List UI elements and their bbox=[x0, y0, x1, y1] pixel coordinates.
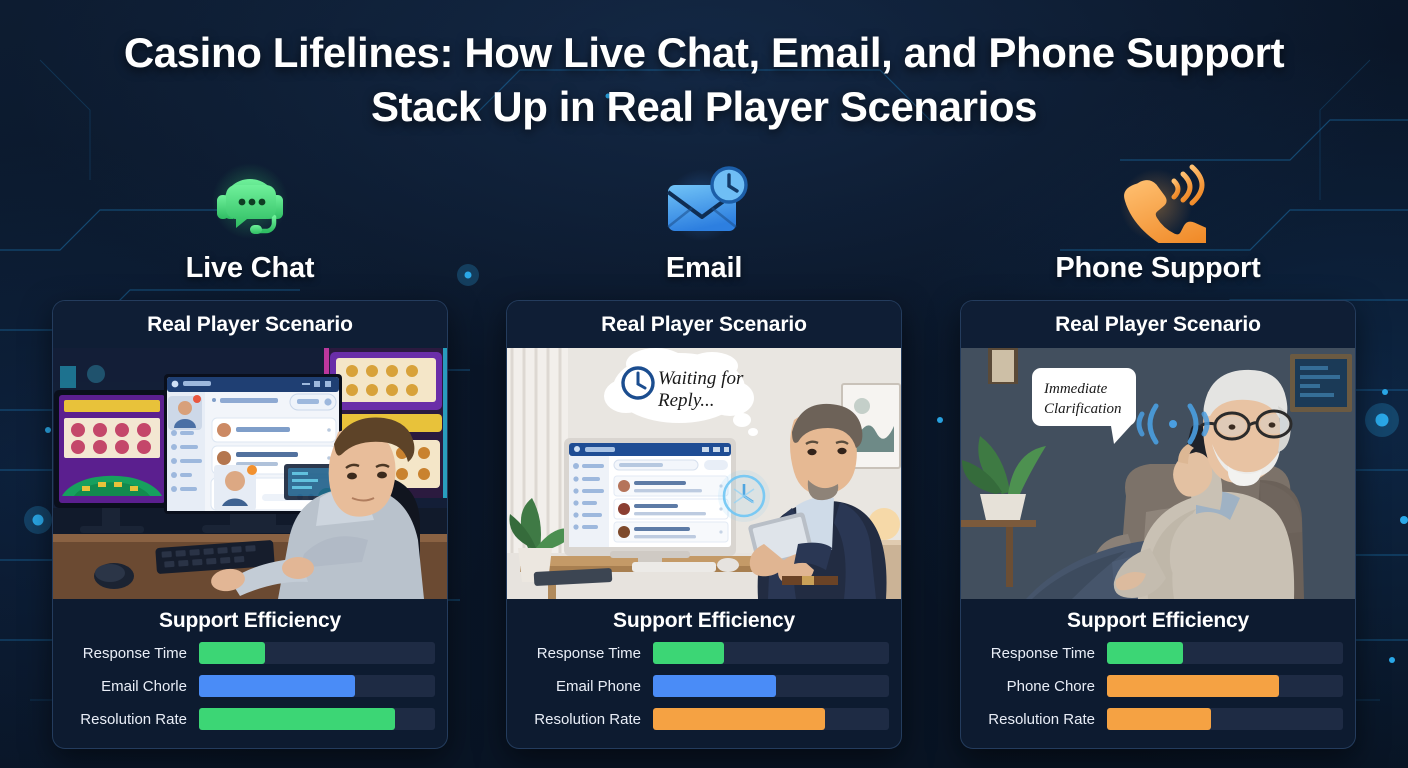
scene-businessman-waiting-at-desk: Waiting for Reply... bbox=[507, 348, 901, 599]
speech-bubble-line2: Clarification bbox=[1044, 401, 1122, 417]
metric-fill bbox=[1107, 675, 1279, 697]
metric-label: Resolution Rate bbox=[973, 711, 1107, 728]
scenario-card-phone-support: Real Player Scenario bbox=[960, 300, 1356, 749]
metric-label: Resolution Rate bbox=[519, 711, 653, 728]
scenario-card-email: Real Player Scenario bbox=[506, 300, 902, 749]
support-efficiency-phone: Support Efficiency Response Time Phone C… bbox=[961, 599, 1355, 748]
metric-fill bbox=[199, 708, 395, 730]
metric-fill bbox=[653, 675, 776, 697]
metric-track bbox=[1107, 675, 1343, 697]
channel-column-live-chat: Live Chat Real Player Scenario bbox=[52, 160, 448, 749]
metric-row: Email Phone bbox=[519, 675, 889, 697]
channel-label: Live Chat bbox=[186, 252, 315, 285]
metric-row: Resolution Rate bbox=[65, 708, 435, 730]
metric-label: Response Time bbox=[65, 645, 199, 662]
efficiency-title: Support Efficiency bbox=[65, 609, 435, 633]
channel-label: Phone Support bbox=[1055, 252, 1260, 285]
metric-track bbox=[653, 708, 889, 730]
thought-bubble-line2: Reply... bbox=[657, 390, 714, 411]
card-header: Real Player Scenario bbox=[961, 301, 1355, 348]
phone-handset-waves-icon bbox=[1110, 160, 1206, 246]
speech-bubble-line1: Immediate bbox=[1043, 381, 1108, 397]
metric-label: Response Time bbox=[519, 645, 653, 662]
efficiency-title: Support Efficiency bbox=[973, 609, 1343, 633]
channel-columns: Live Chat Real Player Scenario bbox=[52, 160, 1356, 749]
metric-label: Resolution Rate bbox=[65, 711, 199, 728]
metric-row: Resolution Rate bbox=[519, 708, 889, 730]
metric-row: Resolution Rate bbox=[973, 708, 1343, 730]
metric-label: Response Time bbox=[973, 645, 1107, 662]
metric-row: Response Time bbox=[65, 642, 435, 664]
metric-track bbox=[199, 708, 435, 730]
metric-label: Phone Chore bbox=[973, 678, 1107, 695]
metric-track bbox=[199, 642, 435, 664]
channel-column-email: Email Real Player Scenario bbox=[506, 160, 902, 749]
metric-fill bbox=[199, 675, 355, 697]
metric-fill bbox=[1107, 642, 1183, 664]
metric-fill bbox=[653, 642, 724, 664]
channel-label: Email bbox=[666, 252, 742, 285]
metric-track bbox=[1107, 642, 1343, 664]
page-title: Casino Lifelines: How Live Chat, Email, … bbox=[0, 26, 1408, 134]
metric-track bbox=[199, 675, 435, 697]
metric-track bbox=[1107, 708, 1343, 730]
support-efficiency-email: Support Efficiency Response Time Email P… bbox=[507, 599, 901, 748]
card-header: Real Player Scenario bbox=[53, 301, 447, 348]
infographic-canvas: Casino Lifelines: How Live Chat, Email, … bbox=[0, 0, 1408, 768]
metric-track bbox=[653, 642, 889, 664]
metric-row: Response Time bbox=[973, 642, 1343, 664]
metric-fill bbox=[1107, 708, 1211, 730]
support-efficiency-live-chat: Support Efficiency Response Time Email C… bbox=[53, 599, 447, 748]
metric-row: Email Chorle bbox=[65, 675, 435, 697]
thought-bubble-line1: Waiting for bbox=[658, 368, 744, 389]
live-chat-headset-icon bbox=[202, 160, 298, 246]
metric-row: Response Time bbox=[519, 642, 889, 664]
scenario-card-live-chat: Real Player Scenario bbox=[52, 300, 448, 749]
metric-row: Phone Chore bbox=[973, 675, 1343, 697]
efficiency-title: Support Efficiency bbox=[519, 609, 889, 633]
email-envelope-clock-icon bbox=[656, 160, 752, 246]
scene-young-player-at-desktop-chat bbox=[53, 348, 447, 599]
metric-label: Email Phone bbox=[519, 678, 653, 695]
scene-senior-man-on-phone-in-armchair: Immediate Clarification bbox=[961, 348, 1355, 599]
card-header: Real Player Scenario bbox=[507, 301, 901, 348]
metric-fill bbox=[653, 708, 825, 730]
metric-fill bbox=[199, 642, 265, 664]
metric-label: Email Chorle bbox=[65, 678, 199, 695]
metric-track bbox=[653, 675, 889, 697]
channel-column-phone-support: Phone Support Real Player Scenario bbox=[960, 160, 1356, 749]
